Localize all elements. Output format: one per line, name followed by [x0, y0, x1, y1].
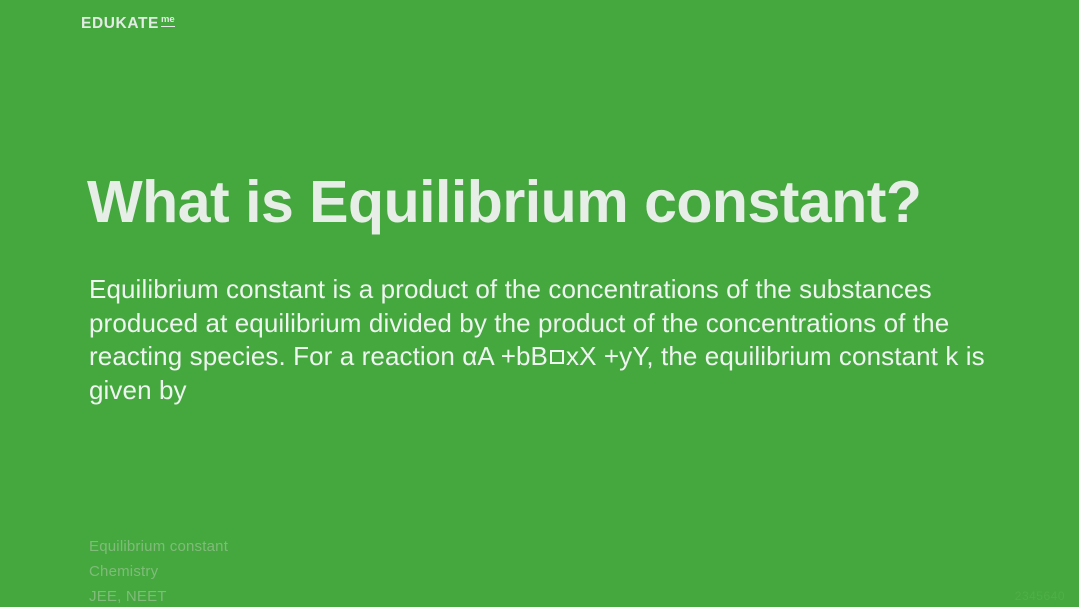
footer-line-exams: JEE, NEET — [89, 584, 228, 607]
footer-line-subject: Chemistry — [89, 559, 228, 584]
slide-canvas: EDUKATE me What is Equilibrium constant?… — [0, 0, 1079, 607]
slide-body-paragraph: Equilibrium constant is a product of the… — [89, 273, 994, 407]
corner-watermark: 2345640 — [1015, 589, 1065, 603]
footer-line-topic: Equilibrium constant — [89, 534, 228, 559]
logo-superscript-me: me — [161, 15, 175, 27]
missing-glyph-box-icon — [550, 350, 564, 364]
slide-title: What is Equilibrium constant? — [87, 171, 1027, 235]
logo-wordmark: EDUKATE — [81, 16, 159, 32]
footer-metadata: Equilibrium constant Chemistry JEE, NEET — [89, 534, 228, 607]
edukate-logo: EDUKATE me — [81, 16, 175, 32]
